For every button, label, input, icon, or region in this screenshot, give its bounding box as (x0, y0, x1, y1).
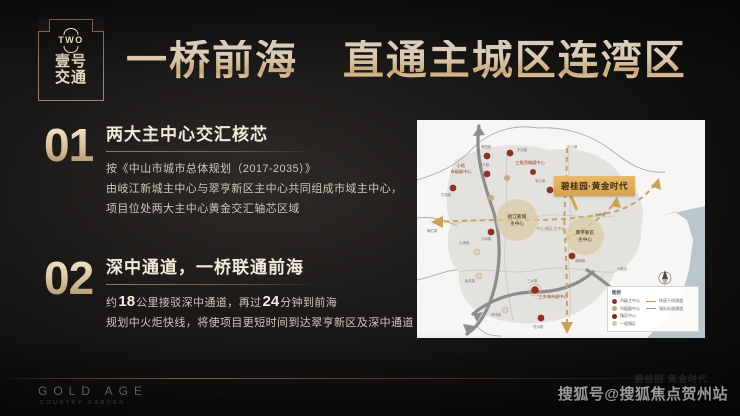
legend-dot-icon (612, 299, 617, 304)
block-text-01: 两大主中心交汇核芯 按《中山市城市总体规划（2017-2035）》 由岐江新城主… (102, 120, 414, 219)
legend-dot-icon (612, 314, 617, 319)
block-line: 由岐江新城主中心与翠亨新区主中心共同组成市域主中心， (106, 179, 414, 199)
map-center-halo-qijiang (496, 199, 538, 241)
map-compass (659, 270, 671, 286)
legend-columns: 市级主中心 市级副中心 镇区中心 一般镇区 (612, 298, 694, 328)
block-line-highlight: 约18公里接驳深中通道，再过24分钟到前海 (106, 292, 414, 313)
brand-subtitle: COUNTRY GARDEN (40, 400, 148, 406)
block-number-01: 01 (44, 122, 102, 168)
badge-cn-label: 壹号 交通 (55, 54, 87, 86)
legend-row: 镇区中心 (612, 313, 640, 319)
feature-block-02: 02 深中通道，一桥联通前海 约18公里接驳深中通道，再过24分钟到前海 规划中… (44, 253, 414, 333)
page-title-part2: 直通主城区连湾区 (343, 37, 687, 83)
line-prefix: 约 (106, 297, 117, 309)
legend-dot-icon (612, 306, 617, 311)
map-label-xiaolan-sub: 市级副中心 (451, 168, 473, 175)
legend-label: 城际轨道通道 (659, 306, 683, 312)
map-legend: 图例 市级主中心 市级副中心 镇区中心 (607, 286, 699, 332)
legend-row: 城际轨道通道 (646, 306, 683, 312)
map-arrow-n (473, 126, 485, 136)
map-center-halo-cuiheng (566, 217, 604, 255)
map-label-cuiheng: 翠亨新区 (576, 229, 595, 236)
legend-row: 一般镇区 (612, 321, 640, 327)
svg-text:板芙镇: 板芙镇 (465, 278, 476, 283)
line-mid: 公里接驳深中通道，再过 (136, 297, 261, 309)
svg-text:黄圃镇: 黄圃镇 (481, 144, 492, 149)
heading-underline-01 (106, 151, 318, 152)
heading-underline-02 (106, 284, 318, 285)
watermark: 搜狐号@搜狐焦点贺州站 (558, 383, 728, 404)
svg-text:民众镇: 民众镇 (595, 212, 606, 217)
footer-divider (0, 378, 740, 379)
map-label-qijiang-sub: 主中心 (510, 220, 524, 227)
map-label-axis: 中心城区主中心 (536, 225, 566, 232)
block-heading-01: 两大主中心交汇核芯 (106, 120, 414, 151)
map-label-sanxiang: 三乡城市副中心 (538, 293, 568, 300)
legend-column-dots: 市级主中心 市级副中心 镇区中心 一般镇区 (612, 298, 640, 328)
block-text-02: 深中通道，一桥联通前海 约18公里接驳深中通道，再过24分钟到前海 规划中火炬快… (102, 253, 414, 333)
block-line: 项目位处两大主中心黄金交汇轴芯区域 (106, 199, 414, 219)
svg-text:三乡镇: 三乡镇 (527, 278, 538, 283)
page-title-part1: 一桥前海 (126, 37, 298, 83)
legend-label: 市级主中心 (620, 298, 640, 304)
map-label-cuiheng-sub: 主中心 (578, 236, 592, 243)
legend-label: 市级副中心 (620, 306, 640, 312)
block-line: 规划中火炬快线，将使项目更短时间到达翠亨新区及深中通道 (106, 313, 414, 333)
legend-line-icon (646, 301, 656, 302)
page-title: 一桥前海 直通主城区连湾区 (126, 40, 687, 81)
legend-dot-icon (612, 321, 617, 326)
legend-label: 镇区中心 (620, 313, 636, 319)
badge-cn-line2: 交通 (55, 70, 87, 86)
legend-row: 市级主中心 (612, 298, 640, 304)
svg-text:东凤镇: 东凤镇 (517, 147, 528, 152)
map-corridor-arrow-south (561, 322, 573, 334)
regional-map: 岐江新城 主中心 翠亨新区 主中心 中心城区主中心 三角西城副中心 小榄 市级副… (417, 120, 705, 338)
content-column: 01 两大主中心交汇核芯 按《中山市城市总体规划（2017-2035）》 由岐江… (44, 120, 414, 333)
map-label-sanjiao: 三角西城副中心 (515, 159, 545, 166)
svg-text:南头镇: 南头镇 (479, 162, 490, 167)
line-suffix: 分钟到前海 (280, 297, 337, 309)
legend-row: 快速干线通道 (646, 298, 683, 304)
svg-text:横栏镇: 横栏镇 (427, 228, 438, 233)
block-line: 按《中山市城市总体规划（2017-2035）》 (106, 159, 414, 179)
svg-text:南朗镇: 南朗镇 (575, 258, 586, 263)
svg-text:大涌镇: 大涌镇 (459, 240, 470, 245)
slide-root: TWO 壹号 交通 一桥前海 直通主城区连湾区 01 两大主中心交汇核芯 按《中… (0, 0, 740, 416)
legend-column-lines: 快速干线通道 城际轨道通道 (646, 298, 683, 328)
block-number-02: 02 (44, 255, 102, 301)
svg-text:神湾镇: 神湾镇 (491, 312, 502, 317)
svg-text:古镇镇: 古镇镇 (441, 192, 452, 197)
legend-label: 快速干线通道 (659, 298, 683, 304)
svg-text:沙溪镇: 沙溪镇 (481, 236, 492, 241)
line-emphasis-distance: 18 (117, 293, 136, 310)
feature-block-01: 01 两大主中心交汇核芯 按《中山市城市总体规划（2017-2035）》 由岐江… (44, 120, 414, 219)
block-heading-02: 深中通道，一桥联通前海 (106, 253, 414, 284)
footer-brand: GOLD AGE COUNTRY GARDEN (38, 384, 148, 406)
line-emphasis-time: 24 (262, 293, 281, 310)
legend-title: 图例 (612, 290, 694, 296)
legend-row: 市级副中心 (612, 306, 640, 312)
legend-label: 一般镇区 (620, 321, 636, 327)
svg-text:马鞍岛: 马鞍岛 (617, 266, 628, 271)
badge-en-label: TWO (58, 36, 84, 45)
map-project-label: 碧桂园·黄金时代 (554, 176, 635, 196)
map-label-qijiang: 岐江新城 (508, 213, 527, 220)
badge-notch-left (38, 19, 50, 32)
brand-name: GOLD AGE (38, 384, 148, 398)
legend-line-icon (646, 308, 656, 309)
svg-text:坦洲镇: 坦洲镇 (533, 324, 544, 329)
badge-notch-right (92, 19, 104, 32)
map-label-xiaolan: 小榄 (457, 162, 465, 169)
badge-cn-line1: 壹号 (55, 54, 87, 70)
svg-text:阜沙镇: 阜沙镇 (535, 178, 546, 183)
slide-header: TWO 壹号 交通 一桥前海 直通主城区连湾区 (0, 8, 740, 112)
brand-badge: TWO 壹号 交通 (38, 19, 104, 101)
svg-text:中山港: 中山港 (567, 144, 578, 149)
